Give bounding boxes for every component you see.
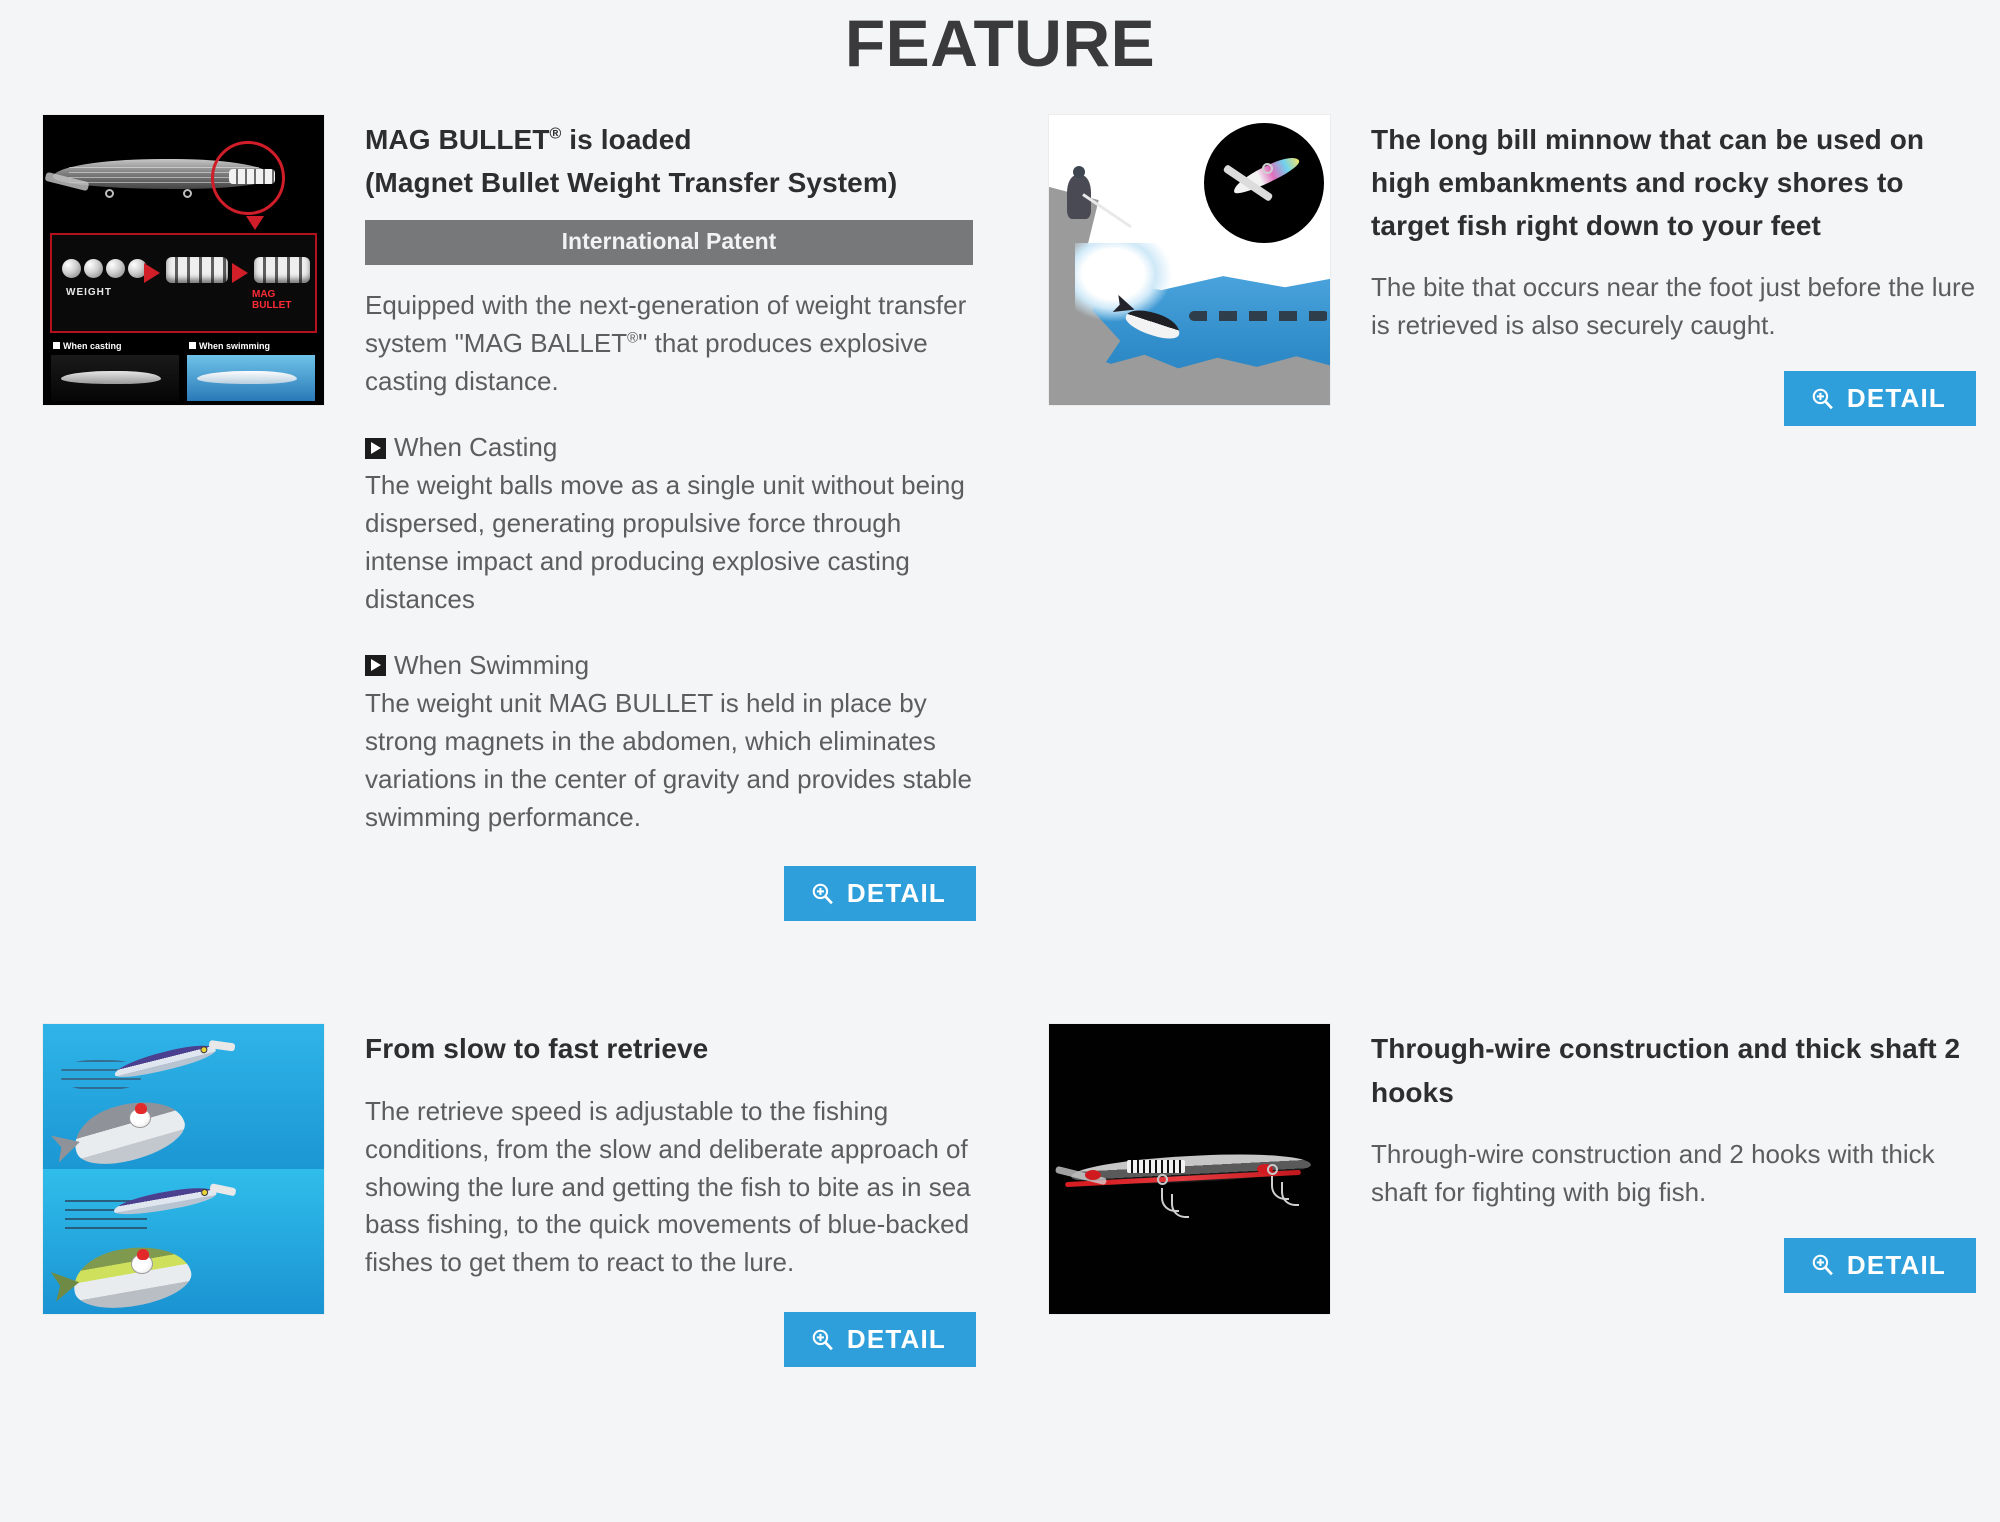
slow-and-fast-retrieve-illustration bbox=[42, 1023, 325, 1315]
treble-hook-rear bbox=[1271, 1170, 1301, 1208]
feature-block-slow-to-fast-retrieve: From slow to fast retrieve The retrieve … bbox=[0, 921, 1000, 1367]
international-patent-badge: International Patent bbox=[365, 220, 973, 265]
feature-grid: WEIGHT MAG BULLET When casting When swim… bbox=[0, 82, 2000, 1367]
section-text-when-swimming: The weight unit MAG BULLET is held in pl… bbox=[365, 685, 976, 837]
feature-block-long-bill-minnow: The long bill minnow that can be used on… bbox=[1000, 82, 2000, 922]
magnifier-plus-icon bbox=[810, 1327, 835, 1352]
heading-line-2: (Magnet Bullet Weight Transfer System) bbox=[365, 167, 897, 198]
thumbnail-sub-row: When casting When swimming bbox=[51, 341, 316, 403]
mag-bullet-xray-diagram: WEIGHT MAG BULLET When casting When swim… bbox=[42, 114, 325, 406]
section-heading-when-swimming: When Swimming bbox=[365, 649, 976, 683]
underwater-rock-line bbox=[1189, 311, 1329, 321]
magnifier-plus-icon bbox=[1810, 1252, 1835, 1277]
weight-balls bbox=[62, 259, 147, 278]
through-wire-lure-xray-photo bbox=[1048, 1023, 1331, 1315]
section-heading-when-casting: When Casting bbox=[365, 431, 976, 465]
lure-closeup-inset bbox=[1204, 123, 1324, 243]
through-wire-construction-text: Through-wire construction and 2 hooks wi… bbox=[1371, 1136, 1976, 1212]
detail-button-label: DETAIL bbox=[847, 1326, 946, 1352]
magnifier-plus-icon bbox=[810, 881, 835, 906]
section-title-when-swimming: When Swimming bbox=[394, 649, 589, 683]
mag-bullet-label: MAG BULLET bbox=[252, 289, 315, 311]
sub-label-when-casting: When casting bbox=[53, 341, 122, 351]
long-bill-minnow-heading: The long bill minnow that can be used on… bbox=[1371, 118, 1976, 247]
sub-image-swimming bbox=[187, 355, 315, 401]
arrow-right-icon bbox=[232, 263, 248, 283]
weight-label: WEIGHT bbox=[66, 287, 112, 298]
feature-page: FEATURE WEIGHT bbox=[0, 0, 2000, 1522]
detail-button-label: DETAIL bbox=[847, 880, 946, 906]
mag-bullet-intro-text: Equipped with the next-generation of wei… bbox=[365, 287, 976, 401]
weight-cluster-mid bbox=[166, 257, 228, 283]
weight-cluster-end bbox=[254, 257, 310, 283]
slow-to-fast-retrieve-heading: From slow to fast retrieve bbox=[365, 1027, 976, 1070]
feature-block-through-wire-construction: Through-wire construction and thick shaf… bbox=[1000, 921, 2000, 1367]
treble-hook-front bbox=[1161, 1182, 1191, 1220]
slow-to-fast-retrieve-content: From slow to fast retrieve The retrieve … bbox=[325, 1023, 976, 1367]
page-title: FEATURE bbox=[0, 0, 2000, 82]
detail-button-label: DETAIL bbox=[1847, 385, 1946, 411]
mag-bullet-heading: MAG BULLET® is loaded (Magnet Bullet Wei… bbox=[365, 118, 976, 204]
through-wire-construction-content: Through-wire construction and thick shaf… bbox=[1331, 1023, 1976, 1292]
play-marker-icon bbox=[365, 438, 386, 459]
internal-weight-chamber bbox=[1127, 1160, 1185, 1173]
detail-button-row: DETAIL bbox=[365, 866, 976, 921]
through-wire-construction-heading: Through-wire construction and thick shaf… bbox=[1371, 1027, 1976, 1113]
slow-to-fast-retrieve-text: The retrieve speed is adjustable to the … bbox=[365, 1093, 976, 1283]
heading-line-1: MAG BULLET® is loaded bbox=[365, 124, 692, 155]
detail-button-slow-to-fast-retrieve[interactable]: DETAIL bbox=[784, 1312, 976, 1367]
angler-on-rocky-shore-illustration bbox=[1048, 114, 1331, 406]
detail-button-row: DETAIL bbox=[365, 1312, 976, 1367]
detail-button-mag-bullet[interactable]: DETAIL bbox=[784, 866, 976, 921]
long-bill-minnow-text: The bite that occurs near the foot just … bbox=[1371, 269, 1976, 345]
inset-lure-ring bbox=[1262, 163, 1273, 174]
detail-button-through-wire-construction[interactable]: DETAIL bbox=[1784, 1238, 1976, 1293]
feature-block-mag-bullet: WEIGHT MAG BULLET When casting When swim… bbox=[0, 82, 1000, 922]
detail-button-label: DETAIL bbox=[1847, 1252, 1946, 1278]
lure-hook-ring-rear bbox=[183, 189, 192, 198]
highlight-circle bbox=[211, 141, 285, 215]
detail-button-row: DETAIL bbox=[1371, 1238, 1976, 1293]
detail-button-long-bill-minnow[interactable]: DETAIL bbox=[1784, 371, 1976, 426]
magnifier-plus-icon bbox=[1810, 386, 1835, 411]
mag-bullet-content: MAG BULLET® is loaded (Magnet Bullet Wei… bbox=[325, 114, 976, 922]
section-text-when-casting: The weight balls move as a single unit w… bbox=[365, 467, 976, 619]
long-bill-minnow-content: The long bill minnow that can be used on… bbox=[1331, 114, 1976, 426]
play-marker-icon bbox=[365, 655, 386, 676]
sub-label-when-swimming: When swimming bbox=[189, 341, 270, 351]
lure-hook-ring-front bbox=[105, 189, 114, 198]
weight-transfer-panel: WEIGHT MAG BULLET bbox=[50, 233, 317, 333]
arrow-right-icon bbox=[144, 263, 160, 283]
section-title-when-casting: When Casting bbox=[394, 431, 557, 465]
detail-button-row: DETAIL bbox=[1371, 371, 1976, 426]
sub-image-casting bbox=[51, 355, 179, 401]
